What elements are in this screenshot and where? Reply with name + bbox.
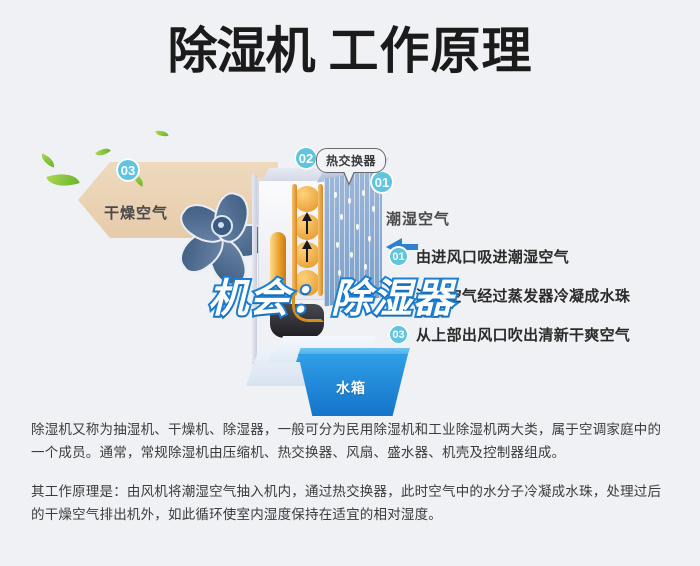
leaf-icon [39,153,57,167]
dehumidifier-unit [250,154,390,354]
dry-air-label: 干燥空气 [104,202,168,223]
diagram-stage: 干燥空气 潮湿空气 [0,110,700,400]
step-badge-03: 03 [388,324,409,345]
paragraph-2: 其工作原理是：由风机将潮湿空气抽入机内，通过热交换器，此时空气中的水分子冷凝成水… [31,480,671,526]
diagram-badge-03: 03 [116,158,140,182]
heat-exchanger-callout: 热交换器 [316,148,386,173]
title-part-1: 除湿机 [168,22,315,80]
page-title: 除湿机工作原理 [0,24,700,78]
description-block: 除湿机又称为抽湿机、干燥机、除湿器，一般可分为民用除湿机和工业除湿机两大类，属于… [31,418,671,542]
leaf-icon [95,144,111,159]
step-text-01: 由进风口吸进潮湿空气 [416,246,569,267]
water-tank-label: 水箱 [336,378,366,398]
leaf-icon [46,168,79,192]
infographic-page: 除湿机工作原理 干燥空气 潮湿空气 [0,0,700,566]
leaf-icon [155,129,168,138]
list-item: 03 从上部出风口吹出清新干爽空气 [388,324,688,345]
watermark-text: 机会：除湿器 [208,266,454,324]
step-text-03: 从上部出风口吹出清新干爽空气 [416,324,630,345]
humid-air-swoosh [392,118,622,258]
diagram-badge-02: 02 [294,146,318,170]
diagram-badge-01: 01 [370,170,394,194]
paragraph-1: 除湿机又称为抽湿机、干燥机、除湿器，一般可分为民用除湿机和工业除湿机两大类，属于… [31,418,671,464]
list-item: 01 由进风口吸进潮湿空气 [388,246,688,267]
title-part-2: 工作原理 [329,22,533,80]
humid-air-label: 潮湿空气 [386,208,450,229]
step-badge-01: 01 [388,246,409,267]
